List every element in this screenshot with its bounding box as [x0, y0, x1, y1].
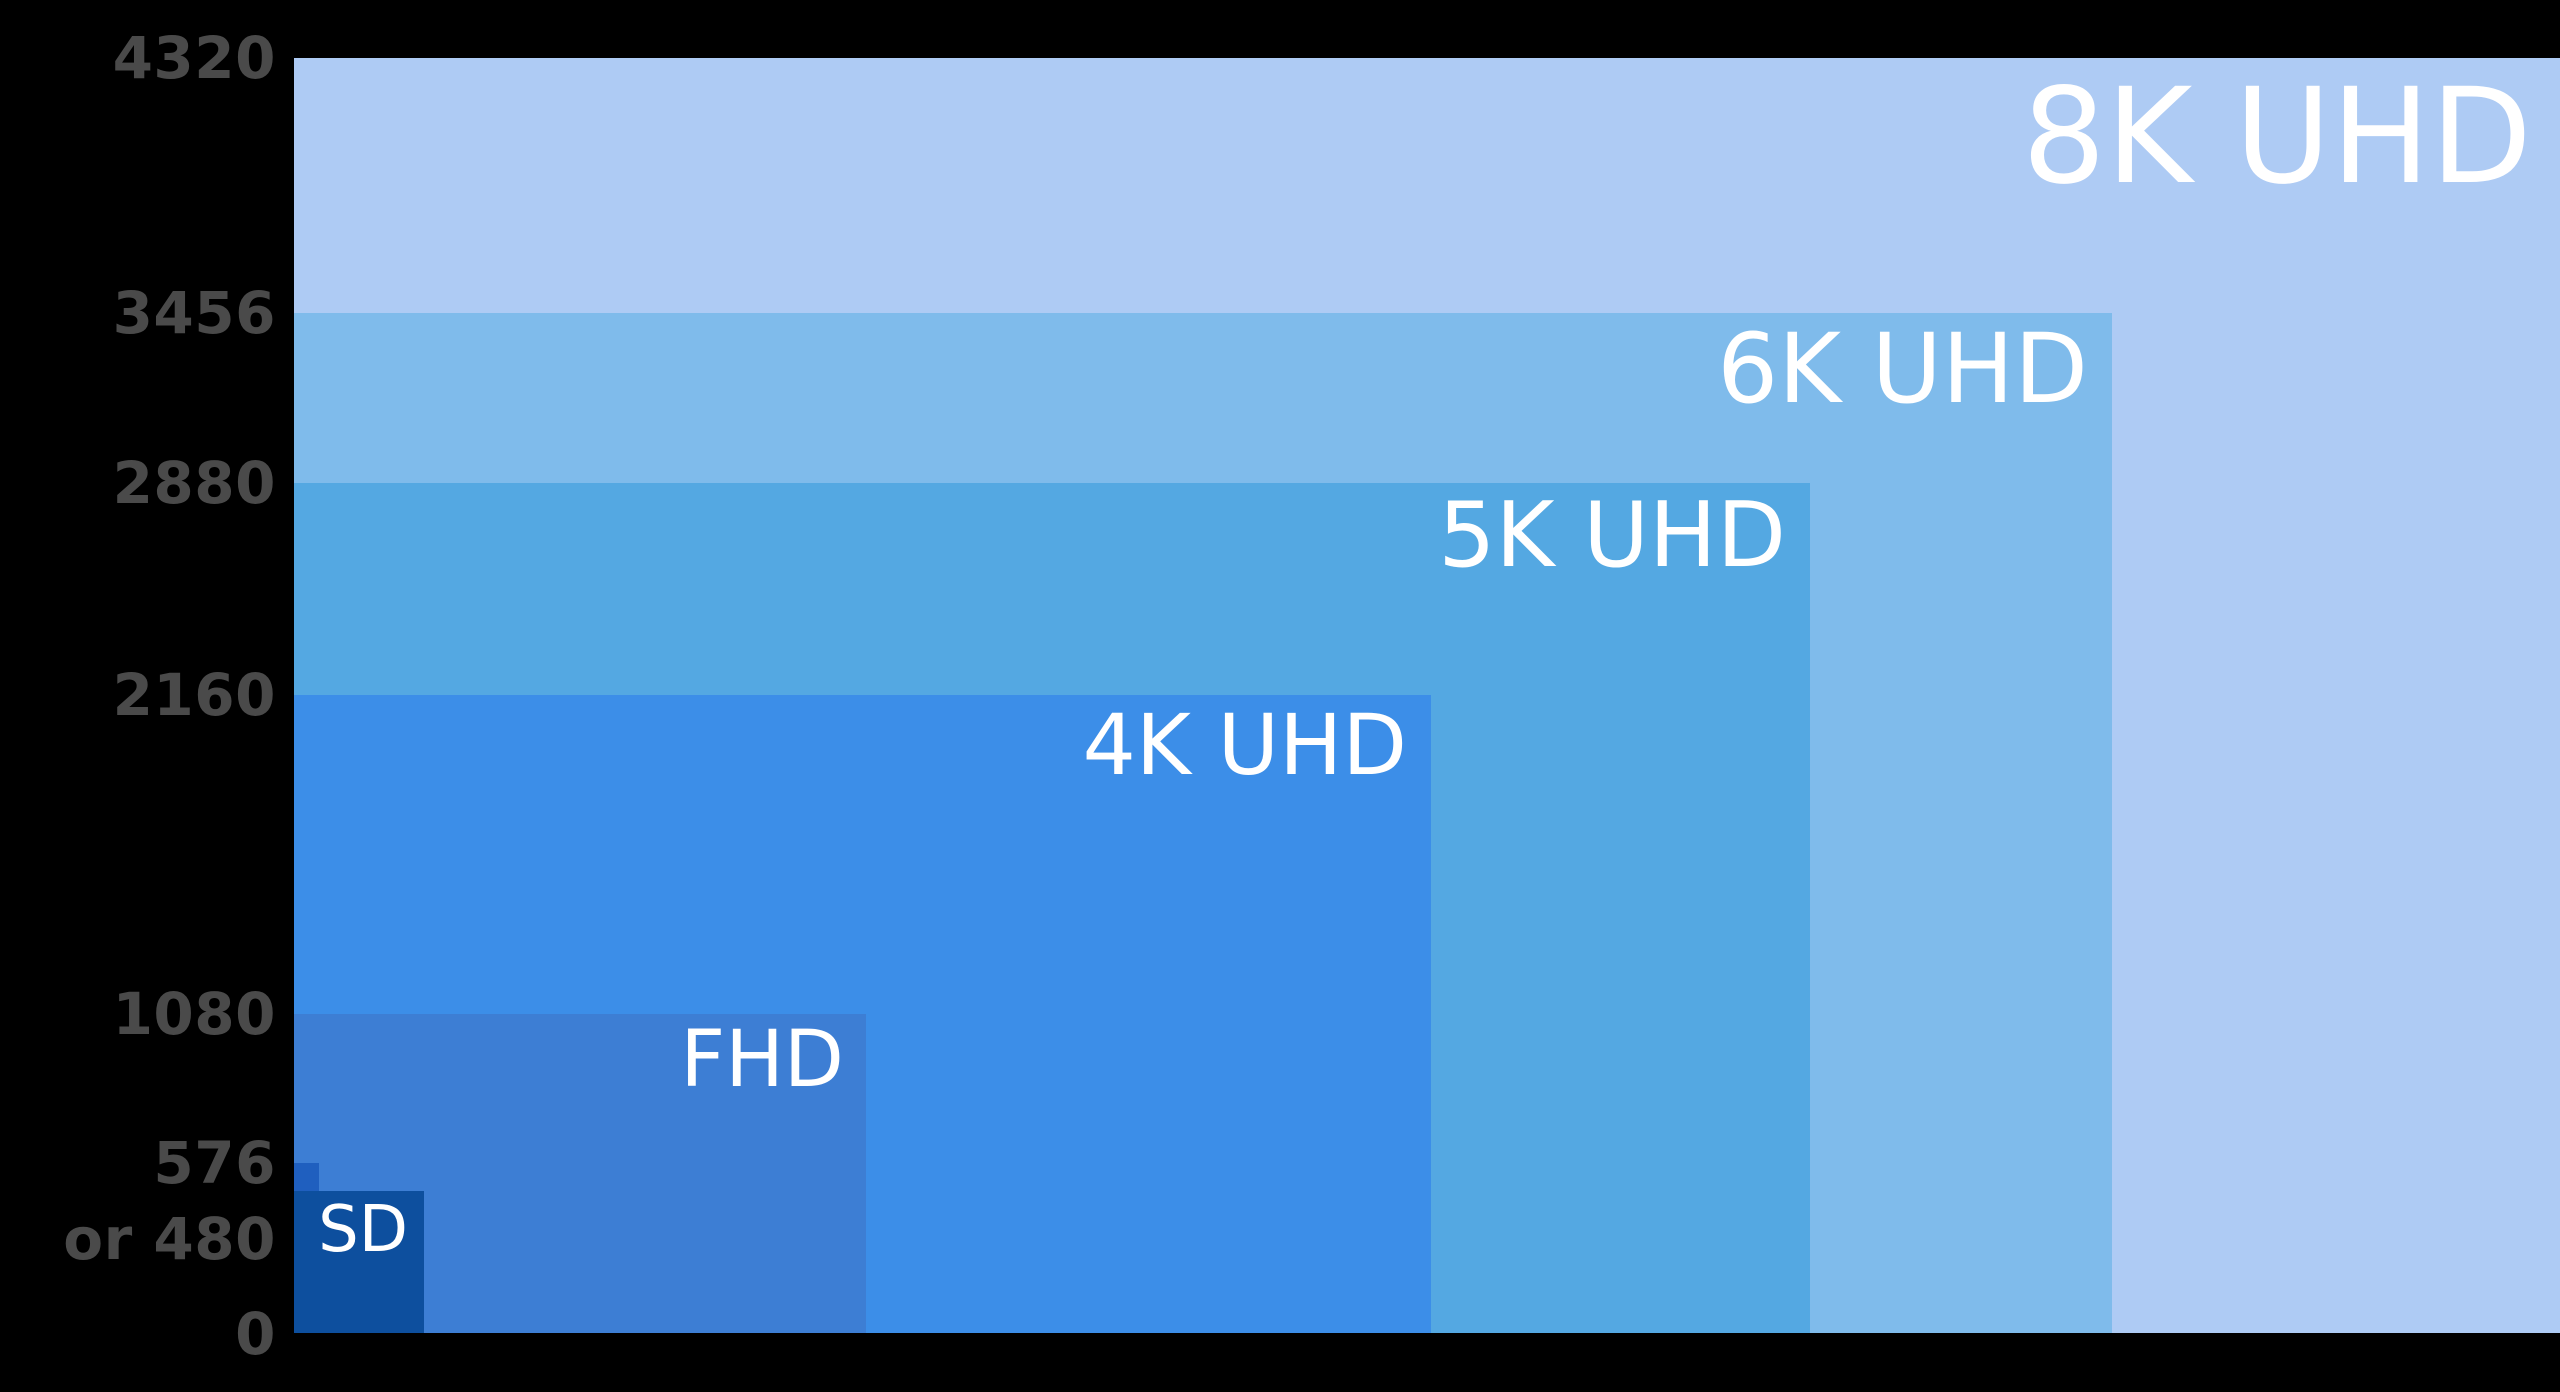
bar-label-sd: SD: [318, 1197, 408, 1264]
y-tick-3456: 3456: [113, 284, 276, 342]
y-tick-576: 576: [153, 1134, 276, 1192]
y-axis: 4320 3456 2880 2160 1080 576 or 480 0: [0, 0, 294, 1392]
resolution-comparison-chart: 4320 3456 2880 2160 1080 576 or 480 0 8K…: [0, 0, 2560, 1392]
bar-label-4k-uhd: 4K UHD: [1082, 701, 1407, 789]
y-tick-2880: 2880: [113, 454, 276, 512]
y-tick-480: or 480: [63, 1210, 276, 1268]
bar-label-6k-uhd: 6K UHD: [1717, 319, 2088, 420]
y-tick-1080: 1080: [113, 985, 276, 1043]
bar-label-fhd: FHD: [680, 1020, 844, 1102]
y-tick-2160: 2160: [113, 666, 276, 724]
bar-label-5k-uhd: 5K UHD: [1438, 489, 1786, 584]
bar-label-8k-uhd: 8K UHD: [2022, 68, 2532, 207]
plot-area: 8K UHD 6K UHD 5K UHD 4K UHD FHD SD: [294, 0, 2560, 1392]
bar-sd: SD: [294, 1191, 424, 1333]
y-tick-0: 0: [235, 1305, 276, 1363]
y-tick-4320: 4320: [113, 29, 276, 87]
